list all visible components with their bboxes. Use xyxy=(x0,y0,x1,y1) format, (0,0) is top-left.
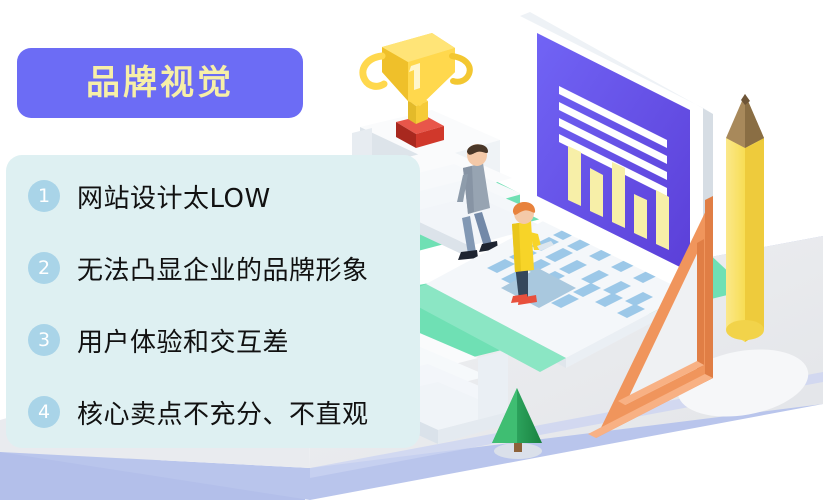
issue-number-badge: 1 xyxy=(28,180,60,212)
issue-number-badge: 3 xyxy=(28,324,60,356)
list-item: 3 用户体验和交互差 xyxy=(28,320,289,360)
issue-number-badge: 4 xyxy=(28,396,60,428)
content-layer: 品牌视觉 1 网站设计太LOW 2 无法凸显企业的品牌形象 3 用户体验和交互差… xyxy=(0,0,823,500)
issue-label: 无法凸显企业的品牌形象 xyxy=(77,250,369,287)
issues-panel: 1 网站设计太LOW 2 无法凸显企业的品牌形象 3 用户体验和交互差 4 核心… xyxy=(6,155,420,448)
list-item: 1 网站设计太LOW xyxy=(28,176,271,216)
issue-label: 用户体验和交互差 xyxy=(77,322,289,359)
brand-title: 品牌视觉 xyxy=(86,66,234,100)
list-item: 4 核心卖点不充分、不直观 xyxy=(28,392,369,432)
issue-label: 网站设计太LOW xyxy=(77,178,271,215)
issue-number-badge: 2 xyxy=(28,252,60,284)
list-item: 2 无法凸显企业的品牌形象 xyxy=(28,248,369,288)
issue-label: 核心卖点不充分、不直观 xyxy=(77,394,369,431)
brand-badge: 品牌视觉 xyxy=(17,48,303,118)
screenshot-root: 品牌视觉 1 网站设计太LOW 2 无法凸显企业的品牌形象 3 用户体验和交互差… xyxy=(0,0,823,500)
